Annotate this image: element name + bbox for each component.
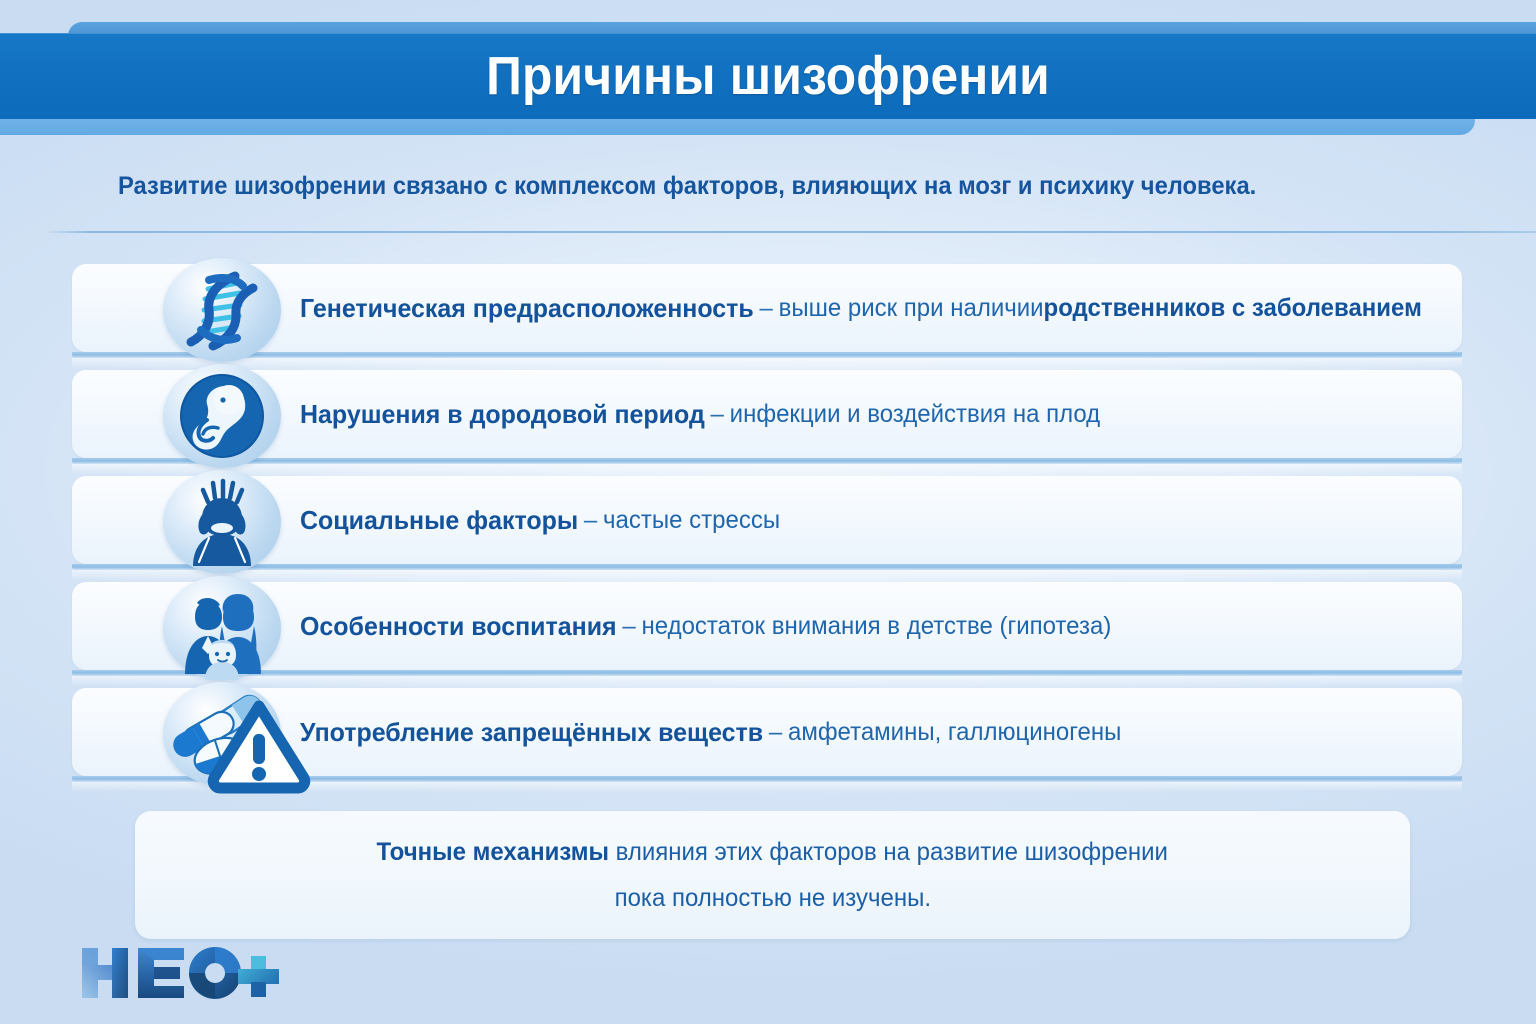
factor-dash: – xyxy=(705,400,730,429)
factor-list: Генетическая предрасположенность – выше … xyxy=(0,264,1536,794)
conclusion-box: Точные механизмы влияния этих факторов н… xyxy=(135,811,1410,939)
fetus-icon xyxy=(163,364,281,468)
factor-detail: амфетамины, галлюциногены xyxy=(788,718,1121,747)
list-item[interactable]: Генетическая предрасположенность – выше … xyxy=(0,264,1536,368)
factor-title: Нарушения в дородовой период xyxy=(300,399,705,430)
list-item[interactable]: Особенности воспитания – недостаток вним… xyxy=(0,582,1536,686)
factor-text: Социальные факторы – частые стрессы xyxy=(300,476,780,564)
factor-text: Генетическая предрасположенность – выше … xyxy=(300,264,1422,352)
factor-text: Употребление запрещённых веществ – амфет… xyxy=(300,688,1121,776)
list-item[interactable]: Социальные факторы – частые стрессы xyxy=(0,476,1536,580)
factor-detail: выше риск при наличии xyxy=(779,294,1044,323)
factor-detail: недостаток внимания в детстве (гипотеза) xyxy=(641,612,1111,641)
factor-title: Социальные факторы xyxy=(300,505,578,536)
factor-dash: – xyxy=(763,718,788,747)
conclusion-line-1: Точные механизмы влияния этих факторов н… xyxy=(377,829,1168,875)
logo-mark xyxy=(78,942,283,1004)
list-item[interactable]: Нарушения в дородовой период – инфекции … xyxy=(0,370,1536,474)
conclusion-line-2: пока полностью не изучены. xyxy=(614,875,930,921)
intro-text: Развитие шизофрении связано с комплексом… xyxy=(118,172,1382,201)
factor-detail: инфекции и воздействия на плод xyxy=(730,400,1101,429)
header-banner: Причины шизофрении xyxy=(0,0,1536,140)
list-item[interactable]: Употребление запрещённых веществ – амфет… xyxy=(0,688,1536,792)
factor-dash: – xyxy=(754,294,779,323)
header-bottom-accent-strip xyxy=(0,119,1475,135)
infographic-canvas: Причины шизофрении Развитие шизофрении с… xyxy=(0,0,1536,1024)
intro-divider xyxy=(45,231,1536,233)
conclusion-emphasis: Точные механизмы xyxy=(377,838,609,866)
dna-helix-icon xyxy=(163,258,281,362)
page-title: Причины шизофрении xyxy=(61,33,1474,119)
factor-text: Нарушения в дородовой период – инфекции … xyxy=(300,370,1100,458)
factor-title: Генетическая предрасположенность xyxy=(300,293,754,324)
factor-dash: – xyxy=(617,612,642,641)
neo-plus-logo[interactable] xyxy=(78,942,283,1004)
family-icon xyxy=(163,576,281,680)
factor-title: Особенности воспитания xyxy=(300,611,617,642)
factor-dash: – xyxy=(578,506,603,535)
factor-detail: частые стрессы xyxy=(603,506,780,535)
pills-warning-icon xyxy=(163,682,281,786)
stressed-person-icon xyxy=(163,470,281,574)
conclusion-line-1-rest: влияния этих факторов на развитие шизофр… xyxy=(609,838,1168,866)
factor-detail-emphasis: родственников с заболеванием xyxy=(1044,294,1422,323)
factor-text: Особенности воспитания – недостаток вним… xyxy=(300,582,1111,670)
factor-title: Употребление запрещённых веществ xyxy=(300,717,763,748)
